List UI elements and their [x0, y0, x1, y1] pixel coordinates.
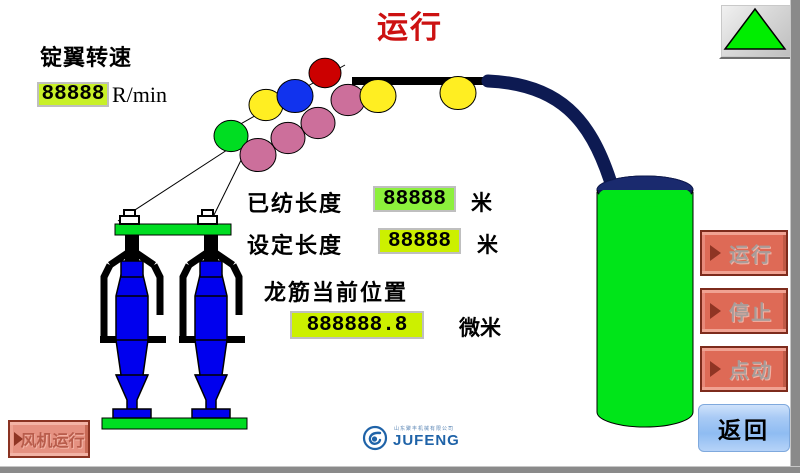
- triangle-up-icon: [721, 5, 789, 53]
- spun-length-label: 已纺长度: [247, 186, 343, 218]
- roller-circle: [277, 79, 313, 112]
- flyer-speed-label: 锭翼转速: [40, 40, 132, 72]
- swirl-logo-icon: [361, 424, 389, 452]
- spun-length-unit: 米: [471, 187, 492, 217]
- flyer-left: [100, 235, 166, 418]
- spindle-assembly: [100, 210, 247, 429]
- jog-button-label: 点动: [702, 355, 786, 384]
- logo-wordmark: JUFENG: [393, 432, 460, 449]
- roller-circle: [271, 122, 305, 153]
- stop-button-label: 停止: [702, 297, 786, 326]
- logo-subtitle: 山东聚丰机械有限公司: [394, 425, 454, 432]
- roller-circle: [440, 76, 476, 109]
- delivery-tube: [352, 77, 610, 180]
- roller-circle: [309, 58, 341, 87]
- roller-circle: [240, 138, 276, 171]
- run-button[interactable]: 运行: [700, 230, 788, 276]
- flyer-right: [179, 235, 245, 418]
- jog-button[interactable]: 点动: [700, 346, 788, 392]
- up-triangle-button[interactable]: [719, 3, 795, 59]
- spun-length-value[interactable]: 88888: [373, 186, 456, 212]
- set-length-unit: 米: [477, 229, 498, 259]
- set-length-value[interactable]: 88888: [378, 228, 461, 254]
- set-length-label: 设定长度: [247, 228, 343, 260]
- back-button[interactable]: 返回: [698, 404, 790, 452]
- roller-circle: [360, 79, 396, 112]
- hmi-screen: 运行 锭翼转速 88888 R/min 已纺长度 88888 米 设定长度 88…: [0, 0, 800, 473]
- roller-circle: [214, 120, 248, 151]
- right-scrollbar-strip[interactable]: [790, 0, 800, 466]
- roller-chain: [214, 58, 476, 171]
- roller-circle: [301, 107, 335, 138]
- bobbin-cylinder: [597, 176, 693, 427]
- run-button-label: 运行: [702, 239, 786, 268]
- stop-button[interactable]: 停止: [700, 288, 788, 334]
- fan-run-button[interactable]: 风机运行: [8, 420, 90, 458]
- bottom-status-bar: [0, 466, 800, 473]
- roller-circle: [249, 89, 283, 120]
- rib-position-unit: 微米: [459, 312, 501, 342]
- page-title: 运行: [330, 2, 490, 47]
- roller-circle: [331, 84, 365, 115]
- rib-position-label: 龙筋当前位置: [264, 275, 408, 307]
- rib-position-value[interactable]: 888888.8: [290, 311, 424, 339]
- company-logo: 山东聚丰机械有限公司 JUFENG: [361, 424, 473, 454]
- fan-run-button-label: 风机运行: [10, 427, 88, 451]
- flyer-speed-unit: R/min: [112, 82, 167, 108]
- flyer-speed-value[interactable]: 88888: [37, 82, 109, 107]
